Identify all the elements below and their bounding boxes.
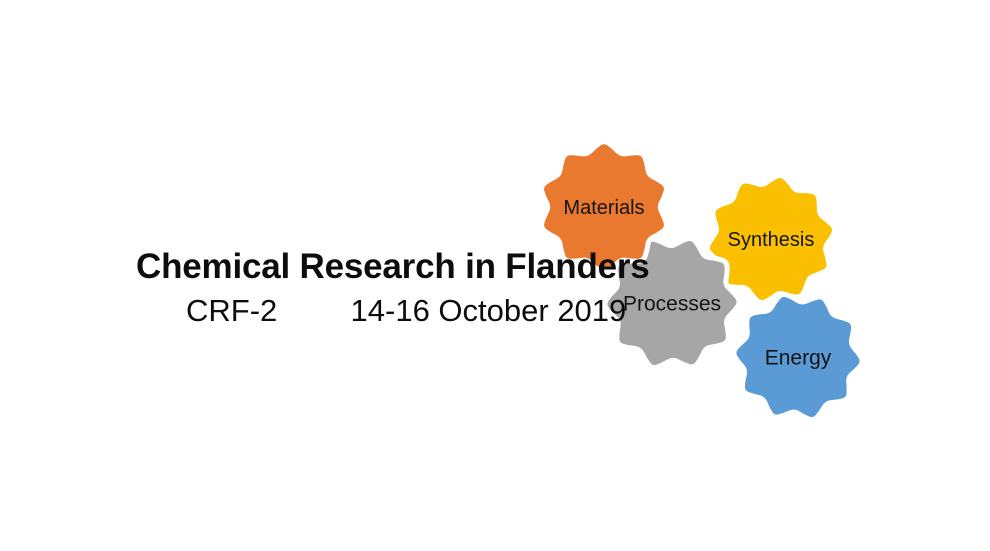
edition-code: CRF-2 (186, 292, 277, 330)
page-title: Chemical Research in Flanders (0, 246, 620, 288)
gear-label-materials: Materials (563, 197, 644, 219)
event-dates: 14-16 October 2019 (351, 292, 627, 330)
gear-label-processes: Processes (623, 293, 721, 316)
gear-energy: Energy (734, 294, 862, 419)
subtitle-line: CRF-2 14-16 October 2019 (0, 292, 620, 330)
gear-synthesis: Synthesis (707, 175, 834, 302)
gear-label-energy: Energy (765, 347, 832, 370)
gear-icon (734, 294, 862, 419)
title-block: Chemical Research in Flanders CRF-2 14-1… (0, 246, 620, 330)
logo-canvas: Energy Synthesis Processes Materials Che… (0, 0, 990, 551)
gear-icon (707, 175, 834, 302)
gear-label-synthesis: Synthesis (728, 229, 815, 251)
